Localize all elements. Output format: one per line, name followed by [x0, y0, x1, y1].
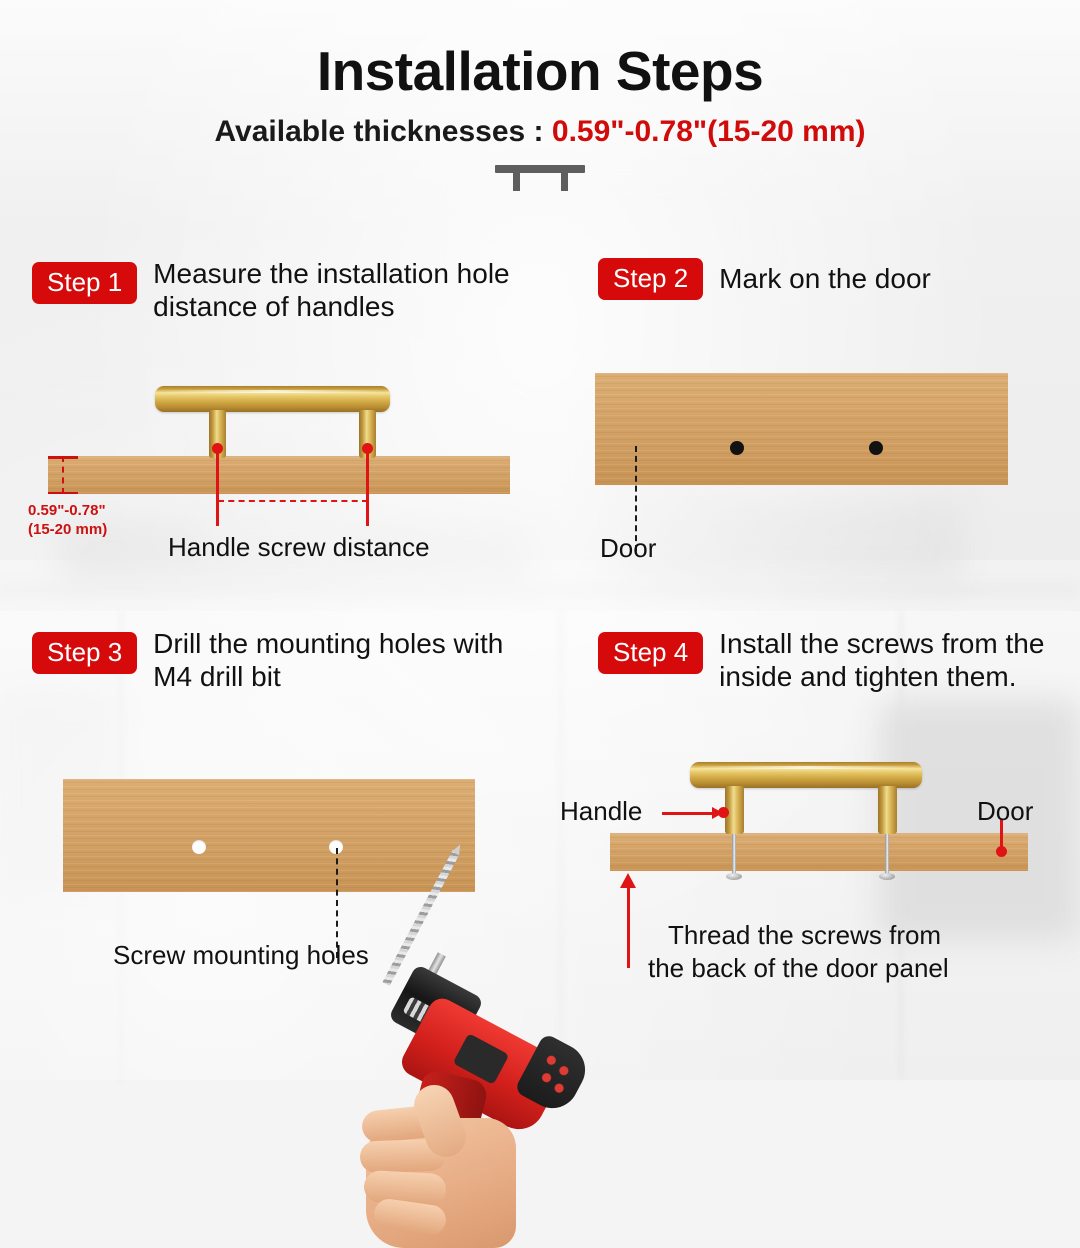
step-4-handle: [690, 762, 922, 834]
step-3-text: Drill the mounting holes with M4 drill b…: [153, 628, 540, 694]
step-1-badge: Step 1: [32, 262, 137, 304]
handle-bar-icon: [495, 165, 585, 191]
step-2-badge: Step 2: [598, 258, 703, 300]
handle-bar: [690, 762, 922, 788]
thickness-note-line1: 0.59"-0.78": [28, 502, 106, 519]
step-4-caption-line1: Thread the screws from: [668, 920, 941, 951]
handle-label-arrow: [662, 812, 722, 815]
thickness-note: 0.59"-0.78" (15-20 mm): [28, 501, 107, 539]
thickness-note-line2: (15-20 mm): [28, 521, 107, 538]
step-4-caption-line2: the back of the door panel: [648, 953, 949, 984]
screw-head-right: [879, 873, 895, 880]
screw-leader-left: [216, 448, 219, 526]
cordless-drill-illustration: [290, 828, 630, 1080]
step-2-text: Mark on the door: [719, 263, 931, 296]
step-4-handle-label: Handle: [560, 796, 642, 827]
step-1-door-panel: [48, 456, 510, 494]
header: Installation Steps Available thicknesses…: [0, 44, 1080, 191]
screw-leader-right: [366, 448, 369, 526]
handle-label-dot: [718, 807, 729, 818]
step-2-panel: Step 2 Mark on the door Door: [540, 258, 1080, 588]
step-4-door-panel: [610, 833, 1028, 871]
page-title: Installation Steps: [0, 44, 1080, 99]
handle-bar: [155, 386, 390, 412]
subtitle-label: Available thicknesses :: [214, 115, 543, 148]
mark-dot-left: [730, 441, 744, 455]
drill-bit-icon: [382, 850, 459, 986]
screw-shaft-left: [732, 834, 736, 876]
handle-bar-icon-leg: [513, 173, 520, 191]
step-2-header: Step 2 Mark on the door: [540, 258, 1080, 300]
thickness-dimension-bracket: [48, 456, 78, 494]
step-4-door-label: Door: [977, 796, 1033, 827]
handle-post-right: [878, 786, 897, 834]
handle-bar-icon-rail: [495, 165, 585, 173]
subtitle-value: 0.59"-0.78"(15-20 mm): [552, 115, 866, 148]
thickness-subtitle: Available thicknesses : 0.59"-0.78"(15-2…: [0, 115, 1080, 149]
step-2-door-panel: [595, 373, 1008, 485]
step-2-caption: Door: [600, 533, 656, 564]
screw-distance-dashed-line: [218, 500, 368, 502]
step-1-handle: [155, 386, 390, 458]
screw-head-left: [726, 873, 742, 880]
screw-shaft-right: [885, 834, 889, 876]
hand-holding-drill: [360, 1078, 540, 1248]
step-1-text: Measure the installation hole distance o…: [153, 258, 540, 324]
step-3-badge: Step 3: [32, 632, 137, 674]
drilled-hole-left: [192, 840, 206, 854]
mark-dot-right: [869, 441, 883, 455]
step-4-text: Install the screws from the inside and t…: [719, 628, 1080, 694]
bracket-dashed-line: [62, 456, 64, 494]
step-1-caption: Handle screw distance: [168, 532, 430, 563]
handle-bar-icon-leg: [561, 173, 568, 191]
door-label-dot: [996, 846, 1007, 857]
step-3-header: Step 3 Drill the mounting holes with M4 …: [0, 628, 540, 694]
step-4-badge: Step 4: [598, 632, 703, 674]
step-1-panel: Step 1 Measure the installation hole dis…: [0, 258, 540, 588]
step-1-header: Step 1 Measure the installation hole dis…: [0, 258, 540, 324]
step-4-header: Step 4 Install the screws from the insid…: [540, 628, 1080, 694]
